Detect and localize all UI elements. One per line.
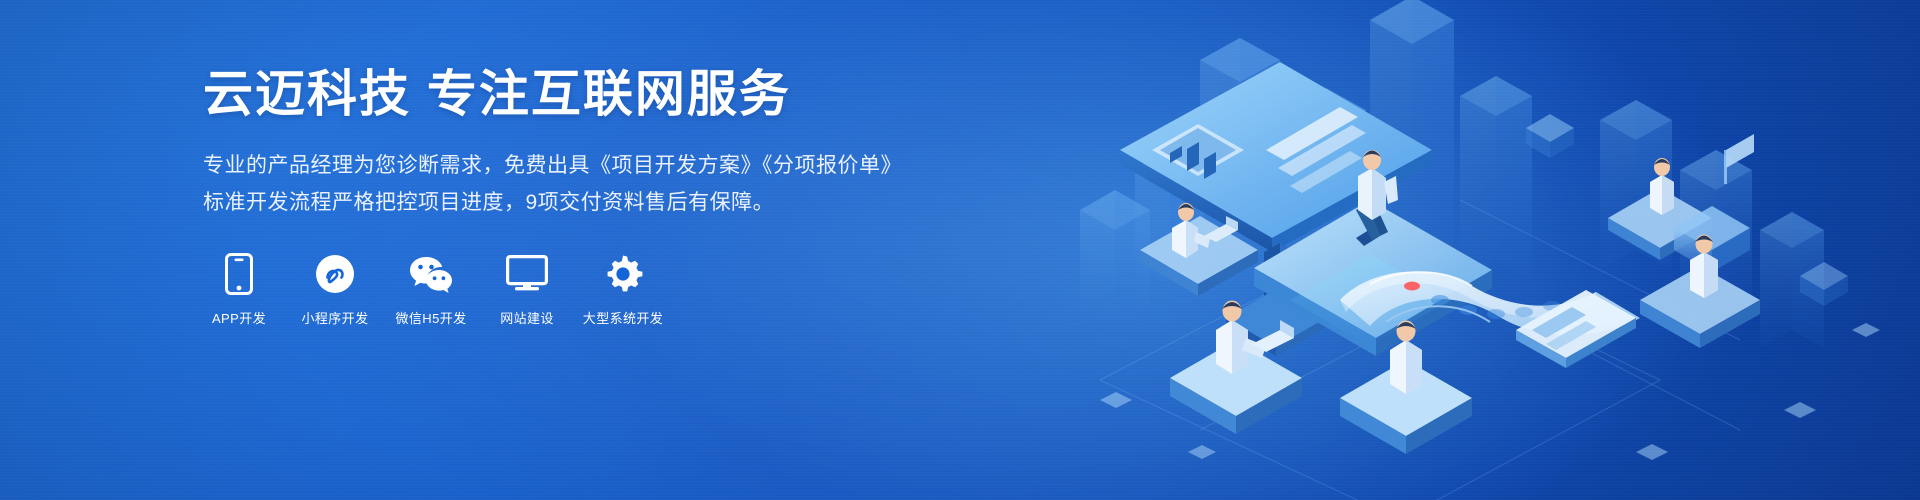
feature-item-mini-program[interactable]: 小程序开发 — [299, 253, 371, 327]
feature-item-large-system[interactable]: 大型系统开发 — [587, 253, 659, 327]
gear-icon — [603, 253, 643, 295]
banner-title: 云迈科技 专注互联网服务 — [203, 64, 1103, 125]
promo-banner: 云迈科技 专注互联网服务 专业的产品经理为您诊断需求，免费出具《项目开发方案》《… — [0, 0, 1920, 500]
wechat-icon — [409, 253, 453, 295]
floating-ui-card — [1516, 290, 1636, 368]
subtitle-line-2: 标准开发流程严格把控项目进度，9项交付资料售后有保障。 — [203, 185, 1103, 222]
feature-item-app[interactable]: APP开发 — [203, 253, 275, 327]
feature-item-website[interactable]: 网站建设 — [491, 253, 563, 327]
feature-label: 大型系统开发 — [583, 308, 663, 327]
feature-label: 网站建设 — [500, 308, 554, 327]
feature-label: 微信H5开发 — [395, 308, 466, 327]
subtitle-line-1: 专业的产品经理为您诊断需求，免费出具《项目开发方案》《分项报价单》 — [203, 148, 1103, 185]
mobile-phone-icon — [225, 253, 253, 295]
monitor-icon — [506, 253, 548, 295]
banner-content: 云迈科技 专注互联网服务 专业的产品经理为您诊断需求，免费出具《项目开发方案》《… — [203, 64, 1103, 327]
feature-label: APP开发 — [212, 308, 266, 327]
banner-subtitle: 专业的产品经理为您诊断需求，免费出具《项目开发方案》《分项报价单》 标准开发流程… — [203, 148, 1103, 222]
feature-label: 小程序开发 — [301, 308, 368, 327]
isometric-tech-illustration — [1040, 0, 1920, 500]
mini-program-icon — [315, 253, 355, 295]
feature-item-wechat-h5[interactable]: 微信H5开发 — [395, 253, 467, 327]
service-feature-list: APP开发 小程序开发 — [203, 253, 1103, 327]
